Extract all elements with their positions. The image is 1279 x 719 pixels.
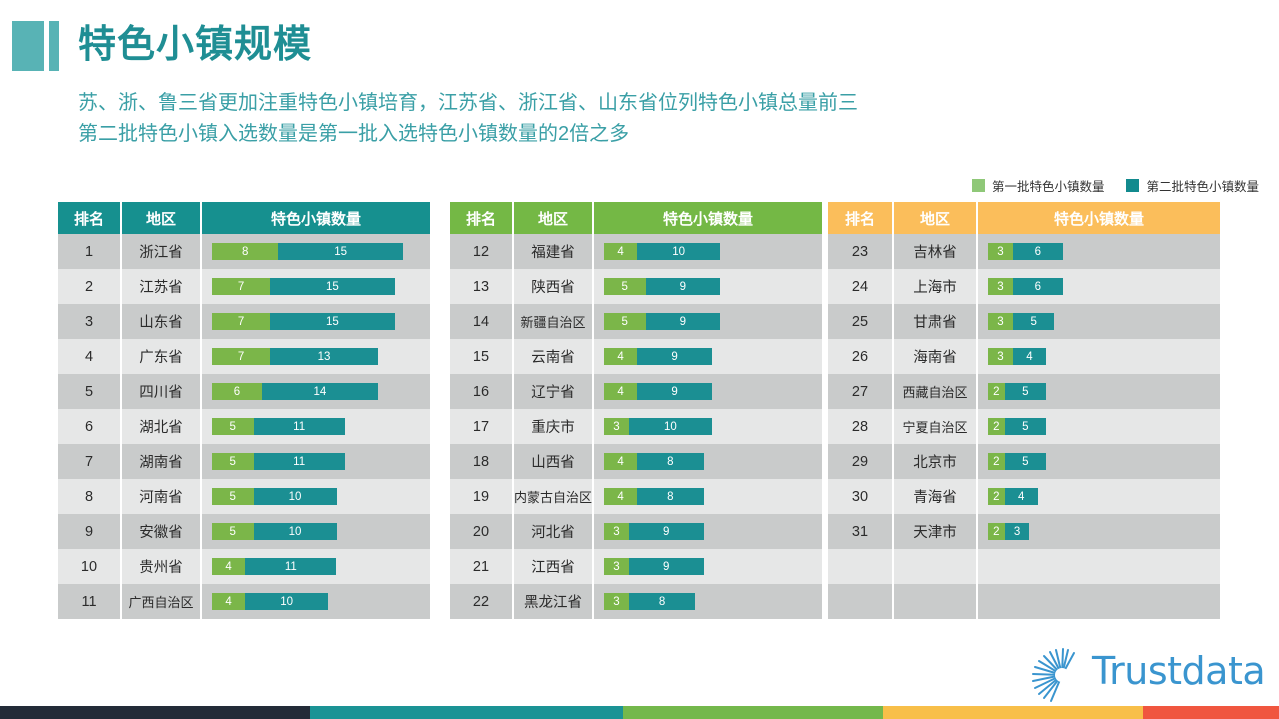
table-row: 20河北省39 <box>450 514 822 549</box>
bar-segment-batch1: 4 <box>212 558 245 575</box>
bar-segment-batch1: 3 <box>604 523 629 540</box>
table-row <box>828 584 1220 619</box>
table-row: 18山西省48 <box>450 444 822 479</box>
bar-segment-batch2: 9 <box>637 383 712 400</box>
cell-stacked-bar: 24 <box>976 479 1220 514</box>
column-header-count: 特色小镇数量 <box>200 202 430 234</box>
cell-region: 青海省 <box>892 479 976 514</box>
sunburst-icon <box>1022 645 1094 703</box>
bar-segment-batch2: 10 <box>254 488 337 505</box>
bar-segment-batch1: 5 <box>212 453 254 470</box>
cell-region: 天津市 <box>892 514 976 549</box>
bar-segment-batch1: 5 <box>604 278 646 295</box>
stacked-bar: 815 <box>212 243 403 260</box>
bar-segment-batch1: 3 <box>988 313 1013 330</box>
bar-segment-batch2: 5 <box>1013 313 1055 330</box>
table-row: 4广东省713 <box>58 339 430 374</box>
stacked-bar: 713 <box>212 348 378 365</box>
cell-stacked-bar: 511 <box>200 409 430 444</box>
cell-stacked-bar: 39 <box>592 549 822 584</box>
legend-item-batch2: 第二批特色小镇数量 <box>1126 176 1259 195</box>
cell-stacked-bar: 310 <box>592 409 822 444</box>
cell-stacked-bar: 49 <box>592 339 822 374</box>
cell-region: 上海市 <box>892 269 976 304</box>
cell-stacked-bar: 39 <box>592 514 822 549</box>
bar-segment-batch1: 4 <box>604 383 637 400</box>
slide-root: 特色小镇规模 苏、浙、鲁三省更加注重特色小镇培育，江苏省、浙江省、山东省位列特色… <box>0 0 1279 719</box>
cell-stacked-bar: 59 <box>592 304 822 339</box>
bar-segment-batch1: 4 <box>604 348 637 365</box>
bar-segment-batch1: 3 <box>604 593 629 610</box>
stacked-bar: 25 <box>988 418 1046 435</box>
cell-region: 西藏自治区 <box>892 374 976 409</box>
cell-stacked-bar: 410 <box>200 584 430 619</box>
table-header-row: 排名地区特色小镇数量 <box>450 202 822 234</box>
table-row: 17重庆市310 <box>450 409 822 444</box>
stacked-bar: 715 <box>212 313 395 330</box>
bar-segment-batch2: 8 <box>637 453 703 470</box>
cell-rank: 21 <box>450 549 512 584</box>
bottom-bar-segment-2 <box>310 706 623 719</box>
cell-rank: 1 <box>58 234 120 269</box>
cell-stacked-bar: 25 <box>976 444 1220 479</box>
cell-region: 浙江省 <box>120 234 200 269</box>
cell-region: 贵州省 <box>120 549 200 584</box>
cell-stacked-bar: 715 <box>200 304 430 339</box>
cell-rank: 14 <box>450 304 512 339</box>
table-row: 2江苏省715 <box>58 269 430 304</box>
cell-rank <box>828 584 892 619</box>
cell-region: 陕西省 <box>512 269 592 304</box>
bar-segment-batch2: 10 <box>254 523 337 540</box>
bar-segment-batch1: 2 <box>988 383 1005 400</box>
table-row: 22黑龙江省38 <box>450 584 822 619</box>
bar-segment-batch1: 4 <box>604 488 637 505</box>
cell-rank: 30 <box>828 479 892 514</box>
cell-rank: 16 <box>450 374 512 409</box>
accent-bar-narrow <box>49 21 59 71</box>
logo-text: Trustdata <box>1092 649 1265 693</box>
table-row: 13陕西省59 <box>450 269 822 304</box>
bar-segment-batch2: 15 <box>278 243 403 260</box>
stacked-bar: 715 <box>212 278 395 295</box>
cell-stacked-bar: 815 <box>200 234 430 269</box>
cell-region: 宁夏自治区 <box>892 409 976 444</box>
bar-segment-batch1: 4 <box>604 453 637 470</box>
cell-stacked-bar: 715 <box>200 269 430 304</box>
table-row: 23吉林省36 <box>828 234 1220 269</box>
stacked-bar: 411 <box>212 558 336 575</box>
bar-segment-batch1: 3 <box>604 558 629 575</box>
stacked-bar: 510 <box>212 523 337 540</box>
bar-segment-batch1: 3 <box>988 243 1013 260</box>
cell-stacked-bar: 23 <box>976 514 1220 549</box>
legend-swatch-icon-batch2 <box>1126 179 1139 192</box>
cell-rank: 10 <box>58 549 120 584</box>
cell-region <box>892 584 976 619</box>
data-table-3: 排名地区特色小镇数量23吉林省3624上海市3625甘肃省3526海南省3427… <box>828 202 1220 619</box>
cell-stacked-bar: 35 <box>976 304 1220 339</box>
cell-region: 山西省 <box>512 444 592 479</box>
cell-stacked-bar: 411 <box>200 549 430 584</box>
bottom-bar-segment-5 <box>1143 706 1279 719</box>
cell-rank: 26 <box>828 339 892 374</box>
bar-segment-batch2: 13 <box>270 348 378 365</box>
bar-segment-batch2: 10 <box>245 593 328 610</box>
cell-stacked-bar: 34 <box>976 339 1220 374</box>
table-row: 24上海市36 <box>828 269 1220 304</box>
table-row: 9安徽省510 <box>58 514 430 549</box>
bar-segment-batch1: 2 <box>988 418 1005 435</box>
cell-region: 海南省 <box>892 339 976 374</box>
stacked-bar: 410 <box>212 593 328 610</box>
table-row: 12福建省410 <box>450 234 822 269</box>
bar-segment-batch2: 5 <box>1005 453 1047 470</box>
cell-region: 山东省 <box>120 304 200 339</box>
stacked-bar: 510 <box>212 488 337 505</box>
table-row: 26海南省34 <box>828 339 1220 374</box>
cell-region: 河北省 <box>512 514 592 549</box>
table-row: 25甘肃省35 <box>828 304 1220 339</box>
stacked-bar: 49 <box>604 383 712 400</box>
bar-segment-batch2: 15 <box>270 278 395 295</box>
cell-rank: 27 <box>828 374 892 409</box>
cell-rank: 9 <box>58 514 120 549</box>
table-row: 19内蒙古自治区48 <box>450 479 822 514</box>
subtitle-line-2: 第二批特色小镇入选数量是第一批入选特色小镇数量的2倍之多 <box>78 119 858 150</box>
stacked-bar: 36 <box>988 243 1063 260</box>
cell-stacked-bar: 59 <box>592 269 822 304</box>
bar-segment-batch1: 3 <box>988 348 1013 365</box>
stacked-bar: 48 <box>604 488 704 505</box>
stacked-bar: 49 <box>604 348 712 365</box>
cell-region: 湖南省 <box>120 444 200 479</box>
cell-rank: 12 <box>450 234 512 269</box>
title-accent-bars <box>12 21 59 71</box>
column-header-region: 地区 <box>892 202 976 234</box>
bar-segment-batch1: 2 <box>988 523 1005 540</box>
cell-stacked-bar: 36 <box>976 269 1220 304</box>
table-row: 10贵州省411 <box>58 549 430 584</box>
bar-segment-batch1: 7 <box>212 278 270 295</box>
cell-region: 江苏省 <box>120 269 200 304</box>
data-table-2: 排名地区特色小镇数量12福建省41013陕西省5914新疆自治区5915云南省4… <box>450 202 822 619</box>
bar-segment-batch2: 6 <box>1013 243 1063 260</box>
bottom-bar-segment-3 <box>623 706 883 719</box>
bar-segment-batch1: 4 <box>212 593 245 610</box>
bar-segment-batch2: 8 <box>629 593 695 610</box>
cell-region: 云南省 <box>512 339 592 374</box>
stacked-bar: 39 <box>604 523 704 540</box>
bar-segment-batch1: 4 <box>604 243 637 260</box>
stacked-bar: 614 <box>212 383 378 400</box>
cell-stacked-bar: 38 <box>592 584 822 619</box>
cell-stacked-bar <box>976 584 1220 619</box>
bar-segment-batch2: 9 <box>646 278 721 295</box>
cell-stacked-bar: 510 <box>200 479 430 514</box>
bar-segment-batch1: 3 <box>604 418 629 435</box>
bar-segment-batch2: 14 <box>262 383 378 400</box>
cell-region: 广东省 <box>120 339 200 374</box>
stacked-bar: 410 <box>604 243 720 260</box>
bar-segment-batch1: 7 <box>212 313 270 330</box>
stacked-bar: 36 <box>988 278 1063 295</box>
table-row: 28宁夏自治区25 <box>828 409 1220 444</box>
cell-rank: 29 <box>828 444 892 479</box>
table-header-row: 排名地区特色小镇数量 <box>58 202 430 234</box>
bar-segment-batch1: 7 <box>212 348 270 365</box>
bar-segment-batch2: 11 <box>245 558 336 575</box>
column-header-count: 特色小镇数量 <box>592 202 822 234</box>
bar-segment-batch2: 10 <box>629 418 712 435</box>
stacked-bar: 59 <box>604 313 720 330</box>
stacked-bar: 38 <box>604 593 695 610</box>
bar-segment-batch2: 5 <box>1005 418 1047 435</box>
cell-rank: 20 <box>450 514 512 549</box>
table-row: 15云南省49 <box>450 339 822 374</box>
cell-region: 甘肃省 <box>892 304 976 339</box>
table-header-row: 排名地区特色小镇数量 <box>828 202 1220 234</box>
cell-rank: 25 <box>828 304 892 339</box>
cell-stacked-bar: 36 <box>976 234 1220 269</box>
cell-stacked-bar: 713 <box>200 339 430 374</box>
bar-segment-batch2: 9 <box>629 523 704 540</box>
bar-segment-batch2: 10 <box>637 243 720 260</box>
column-header-count: 特色小镇数量 <box>976 202 1220 234</box>
stacked-bar: 59 <box>604 278 720 295</box>
cell-rank: 11 <box>58 584 120 619</box>
bar-segment-batch1: 5 <box>212 418 254 435</box>
bar-segment-batch2: 9 <box>637 348 712 365</box>
table-row: 5四川省614 <box>58 374 430 409</box>
stacked-bar: 48 <box>604 453 704 470</box>
stacked-bar: 25 <box>988 453 1046 470</box>
table-row <box>828 549 1220 584</box>
stacked-bar: 24 <box>988 488 1038 505</box>
table-row: 8河南省510 <box>58 479 430 514</box>
cell-region: 北京市 <box>892 444 976 479</box>
trustdata-logo: Trustdata <box>1022 645 1262 703</box>
table-row: 21江西省39 <box>450 549 822 584</box>
cell-region: 辽宁省 <box>512 374 592 409</box>
cell-region: 安徽省 <box>120 514 200 549</box>
column-header-region: 地区 <box>120 202 200 234</box>
cell-stacked-bar: 49 <box>592 374 822 409</box>
stacked-bar: 310 <box>604 418 712 435</box>
accent-bar-wide <box>12 21 44 71</box>
cell-region: 新疆自治区 <box>512 304 592 339</box>
legend-swatch-icon-batch1 <box>972 179 985 192</box>
stacked-bar: 25 <box>988 383 1046 400</box>
cell-region <box>892 549 976 584</box>
cell-stacked-bar: 48 <box>592 444 822 479</box>
cell-rank: 8 <box>58 479 120 514</box>
bar-segment-batch2: 15 <box>270 313 395 330</box>
page-title: 特色小镇规模 <box>78 21 312 69</box>
cell-stacked-bar: 511 <box>200 444 430 479</box>
cell-region: 江西省 <box>512 549 592 584</box>
bottom-bar-segment-1 <box>0 706 310 719</box>
cell-stacked-bar <box>976 549 1220 584</box>
table-row: 6湖北省511 <box>58 409 430 444</box>
table-row: 1浙江省815 <box>58 234 430 269</box>
cell-rank: 4 <box>58 339 120 374</box>
cell-rank: 15 <box>450 339 512 374</box>
cell-rank: 19 <box>450 479 512 514</box>
cell-rank: 23 <box>828 234 892 269</box>
cell-rank: 13 <box>450 269 512 304</box>
table-row: 29北京市25 <box>828 444 1220 479</box>
cell-rank: 24 <box>828 269 892 304</box>
stacked-bar: 23 <box>988 523 1029 540</box>
cell-stacked-bar: 614 <box>200 374 430 409</box>
cell-region: 湖北省 <box>120 409 200 444</box>
data-table-1: 排名地区特色小镇数量1浙江省8152江苏省7153山东省7154广东省7135四… <box>58 202 430 619</box>
bar-segment-batch1: 5 <box>212 488 254 505</box>
cell-stacked-bar: 25 <box>976 409 1220 444</box>
bar-segment-batch2: 6 <box>1013 278 1063 295</box>
cell-rank: 5 <box>58 374 120 409</box>
cell-rank: 3 <box>58 304 120 339</box>
cell-stacked-bar: 510 <box>200 514 430 549</box>
table-row: 27西藏自治区25 <box>828 374 1220 409</box>
legend-label-batch2: 第二批特色小镇数量 <box>1146 176 1259 195</box>
cell-region: 吉林省 <box>892 234 976 269</box>
bar-segment-batch1: 5 <box>604 313 646 330</box>
cell-region: 黑龙江省 <box>512 584 592 619</box>
cell-rank <box>828 549 892 584</box>
legend-label-batch1: 第一批特色小镇数量 <box>992 176 1105 195</box>
bar-segment-batch2: 5 <box>1005 383 1047 400</box>
subtitle-line-1: 苏、浙、鲁三省更加注重特色小镇培育，江苏省、浙江省、山东省位列特色小镇总量前三 <box>78 88 858 119</box>
bottom-bar-segment-4 <box>883 706 1143 719</box>
stacked-bar: 511 <box>212 453 345 470</box>
cell-region: 河南省 <box>120 479 200 514</box>
bar-segment-batch1: 2 <box>988 488 1005 505</box>
stacked-bar: 35 <box>988 313 1054 330</box>
bottom-color-bar <box>0 706 1279 719</box>
bar-segment-batch1: 5 <box>212 523 254 540</box>
table-row: 3山东省715 <box>58 304 430 339</box>
stacked-bar: 34 <box>988 348 1046 365</box>
column-header-rank: 排名 <box>58 202 120 234</box>
bar-segment-batch2: 9 <box>629 558 704 575</box>
cell-rank: 31 <box>828 514 892 549</box>
bar-segment-batch2: 11 <box>254 418 345 435</box>
cell-region: 内蒙古自治区 <box>512 479 592 514</box>
cell-region: 四川省 <box>120 374 200 409</box>
bar-segment-batch2: 8 <box>637 488 703 505</box>
cell-rank: 22 <box>450 584 512 619</box>
bar-segment-batch1: 2 <box>988 453 1005 470</box>
cell-stacked-bar: 410 <box>592 234 822 269</box>
subtitle-block: 苏、浙、鲁三省更加注重特色小镇培育，江苏省、浙江省、山东省位列特色小镇总量前三 … <box>78 88 858 150</box>
cell-rank: 28 <box>828 409 892 444</box>
bar-segment-batch2: 11 <box>254 453 345 470</box>
stacked-bar: 39 <box>604 558 704 575</box>
stacked-bar: 511 <box>212 418 345 435</box>
table-row: 11广西自治区410 <box>58 584 430 619</box>
legend-item-batch1: 第一批特色小镇数量 <box>972 176 1105 195</box>
cell-rank: 6 <box>58 409 120 444</box>
table-row: 31天津市23 <box>828 514 1220 549</box>
chart-legend: 第一批特色小镇数量 第二批特色小镇数量 <box>972 176 1259 195</box>
table-row: 30青海省24 <box>828 479 1220 514</box>
cell-stacked-bar: 48 <box>592 479 822 514</box>
cell-region: 广西自治区 <box>120 584 200 619</box>
bar-segment-batch2: 3 <box>1005 523 1030 540</box>
cell-rank: 18 <box>450 444 512 479</box>
cell-rank: 2 <box>58 269 120 304</box>
bar-segment-batch1: 6 <box>212 383 262 400</box>
column-header-region: 地区 <box>512 202 592 234</box>
table-row: 16辽宁省49 <box>450 374 822 409</box>
cell-rank: 7 <box>58 444 120 479</box>
table-row: 14新疆自治区59 <box>450 304 822 339</box>
bar-segment-batch2: 4 <box>1005 488 1038 505</box>
bar-segment-batch1: 3 <box>988 278 1013 295</box>
cell-region: 福建省 <box>512 234 592 269</box>
cell-rank: 17 <box>450 409 512 444</box>
table-row: 7湖南省511 <box>58 444 430 479</box>
cell-region: 重庆市 <box>512 409 592 444</box>
bar-segment-batch2: 9 <box>646 313 721 330</box>
column-header-rank: 排名 <box>828 202 892 234</box>
bar-segment-batch1: 8 <box>212 243 278 260</box>
column-header-rank: 排名 <box>450 202 512 234</box>
bar-segment-batch2: 4 <box>1013 348 1046 365</box>
cell-stacked-bar: 25 <box>976 374 1220 409</box>
